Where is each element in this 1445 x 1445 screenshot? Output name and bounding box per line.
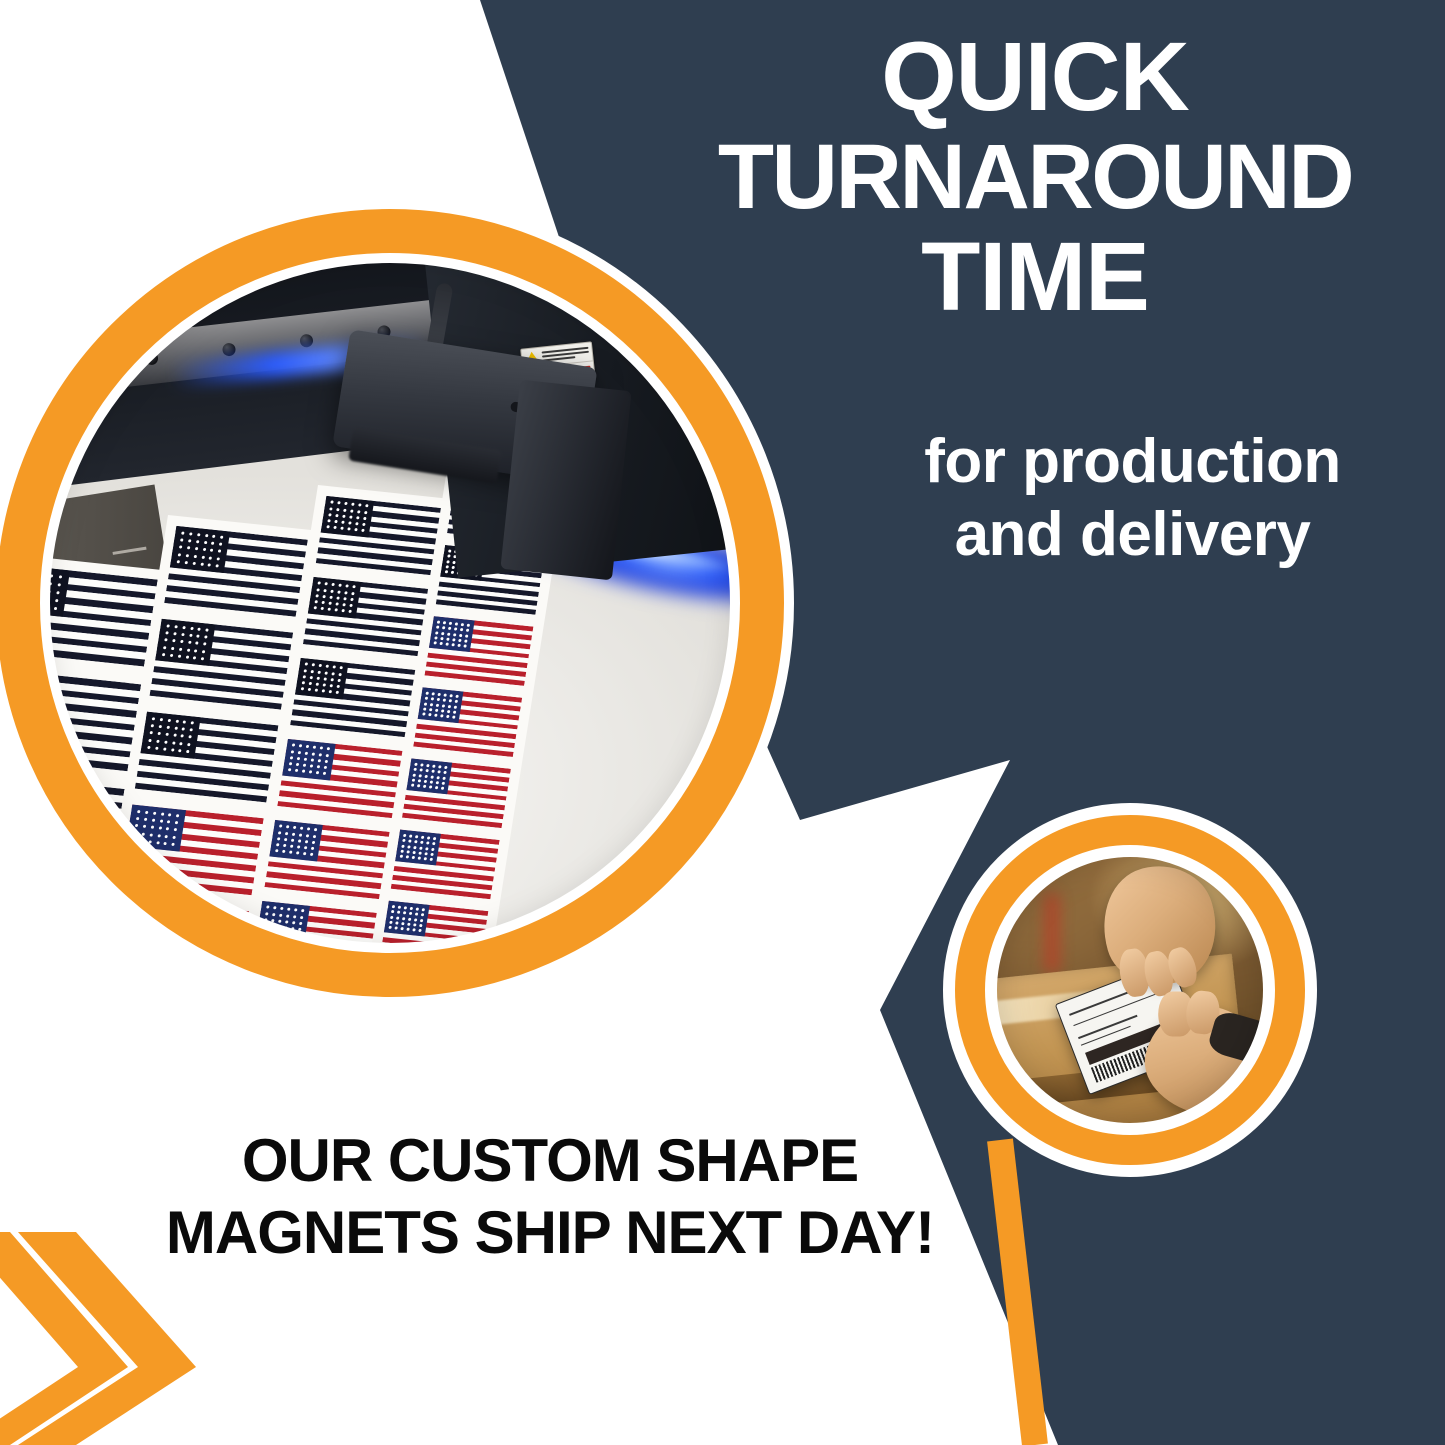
flag-magnet-color xyxy=(40,878,108,953)
flag-magnet-color xyxy=(402,758,511,828)
flag-magnet-mono xyxy=(303,577,429,656)
flag-magnet-color xyxy=(424,616,533,686)
headline-line-3: TIME xyxy=(640,226,1430,329)
flag-magnet-mono xyxy=(40,564,158,667)
poster-canvas: 60 50 40 xyxy=(0,0,1445,1445)
flag-magnet-mono xyxy=(135,712,279,803)
flag-magnet-color xyxy=(252,901,378,953)
flag-magnet-mono xyxy=(316,496,442,575)
headline: QUICK TURNAROUND TIME xyxy=(640,26,1430,329)
tagline-line-2: MAGNETS SHIP NEXT DAY! xyxy=(60,1197,1040,1269)
flag-magnet-color xyxy=(120,804,264,895)
shipping-photo xyxy=(995,855,1265,1125)
flag-magnet-color xyxy=(379,901,488,953)
flag-magnet-color xyxy=(105,897,249,953)
print-head-uv-lamp xyxy=(500,380,631,581)
flag-magnet-mono xyxy=(290,658,416,737)
subheadline-line-2: and delivery xyxy=(820,498,1445,571)
flag-magnet-mono xyxy=(149,619,293,710)
tagline: OUR CUSTOM SHAPE MAGNETS SHIP NEXT DAY! xyxy=(60,1125,1040,1269)
tagline-line-1: OUR CUSTOM SHAPE xyxy=(60,1125,1040,1197)
flag-magnet-mono xyxy=(40,669,141,772)
headline-line-1: QUICK xyxy=(640,26,1430,129)
flag-magnet-mono xyxy=(40,773,125,876)
flag-magnet-color xyxy=(277,739,403,818)
background-object xyxy=(1044,893,1060,973)
printer-photo: 60 50 40 xyxy=(40,253,740,953)
flag-magnet-color xyxy=(413,687,522,757)
flag-magnet-mono xyxy=(164,526,308,617)
flag-magnet-color xyxy=(264,820,390,899)
subheadline: for production and delivery xyxy=(820,425,1445,571)
subheadline-line-1: for production xyxy=(820,425,1445,498)
flag-magnet-color xyxy=(391,829,500,899)
headline-line-2: TURNAROUND xyxy=(640,129,1430,227)
